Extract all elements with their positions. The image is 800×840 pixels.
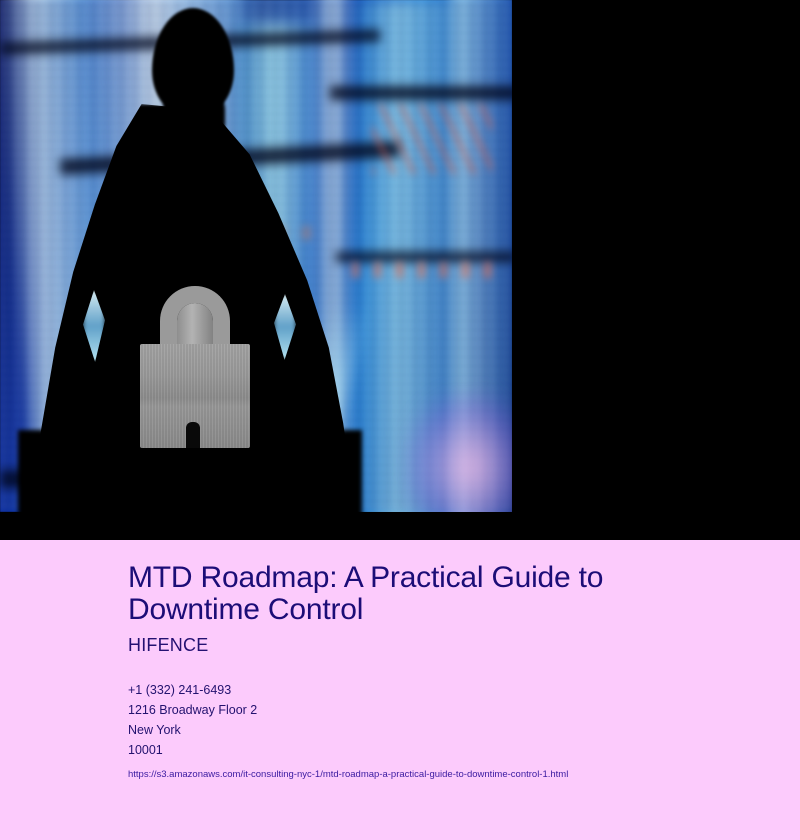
hero-band bbox=[0, 0, 800, 540]
contact-street: 1216 Broadway Floor 2 bbox=[128, 700, 672, 720]
padlock-keyhole bbox=[186, 422, 200, 448]
contact-block: +1 (332) 241-6493 1216 Broadway Floor 2 … bbox=[128, 680, 672, 760]
person-silhouette bbox=[0, 0, 512, 512]
padlock-icon bbox=[140, 286, 250, 450]
silhouette-head bbox=[152, 8, 234, 116]
contact-phone: +1 (332) 241-6493 bbox=[128, 680, 672, 700]
padlock-body bbox=[140, 344, 250, 448]
brand-name: HIFENCE bbox=[128, 634, 672, 656]
contact-postal-code: 10001 bbox=[128, 740, 672, 760]
source-url[interactable]: https://s3.amazonaws.com/it-consulting-n… bbox=[128, 768, 672, 782]
hero-image bbox=[0, 0, 512, 512]
contact-city: New York bbox=[128, 720, 672, 740]
content-panel: MTD Roadmap: A Practical Guide to Downti… bbox=[0, 540, 800, 840]
page-title: MTD Roadmap: A Practical Guide to Downti… bbox=[128, 562, 668, 626]
